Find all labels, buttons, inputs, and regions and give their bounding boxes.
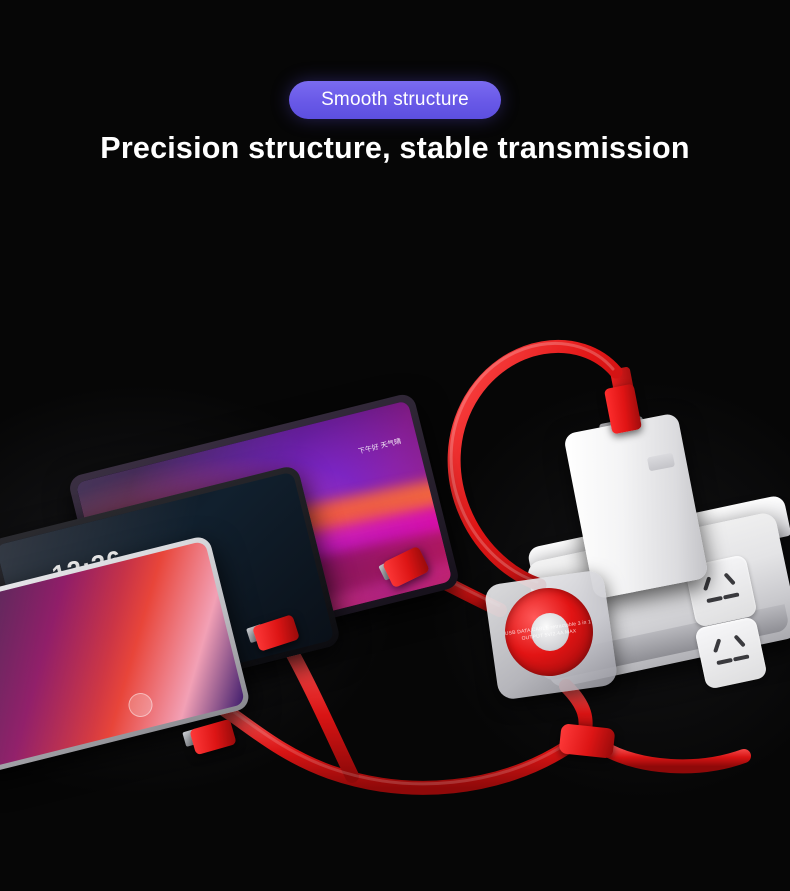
cable-branch-3 — [600, 746, 744, 766]
cable-splitter — [559, 723, 616, 758]
cable-branch-2 — [222, 708, 566, 788]
promo-image: Smooth structure Precision structure, st… — [0, 0, 790, 891]
lock-icon — [126, 691, 155, 720]
